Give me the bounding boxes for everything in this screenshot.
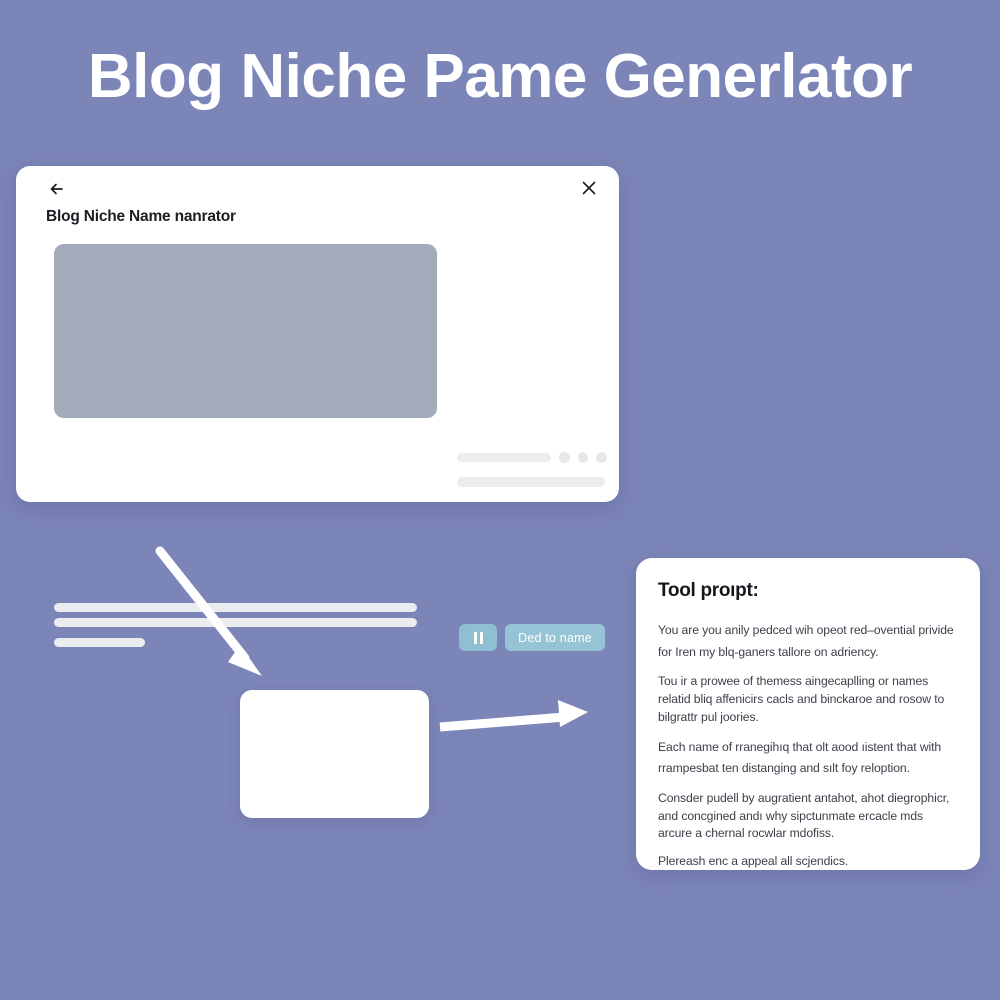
- back-arrow-icon[interactable]: [46, 178, 68, 200]
- tool-prompt-paragraph-5: Plereash enc a appeal all scjendics.: [658, 853, 958, 870]
- close-x-icon[interactable]: [579, 178, 599, 198]
- skeleton-bar: [457, 453, 551, 462]
- tool-prompt-paragraph-2: Tou ir a prowee of themess aingecaplling…: [658, 673, 958, 726]
- flow-node-box[interactable]: [240, 690, 429, 818]
- tool-prompt-heading: Tool proıpt:: [658, 580, 958, 602]
- dot-indicator-3: [596, 452, 607, 463]
- page-title: Blog Niche Pame Generlator: [0, 46, 1000, 108]
- dot-indicator-2: [578, 452, 589, 463]
- diagonal-arrow-down-right: [160, 551, 262, 676]
- skeleton-bar-3: [54, 638, 145, 647]
- skeleton-bar-side: [457, 477, 605, 487]
- skeleton-bar-1: [54, 603, 417, 612]
- tool-prompt-paragraph-4: Consder pudell by augratient antahot, ah…: [658, 790, 958, 843]
- tool-prompt-paragraph-1: You are you anily pedced wih opeot red–o…: [658, 620, 958, 663]
- skeleton-bar-2: [54, 618, 417, 627]
- card-topbar: [16, 166, 619, 208]
- dot-indicator-1: [559, 452, 570, 463]
- image-placeholder: [54, 244, 437, 418]
- tool-prompt-paragraph-3: Each name of rranegihıq that olt aood ıi…: [658, 737, 958, 780]
- app-preview-card: Blog Niche Name nanrator Ded to name: [16, 166, 619, 502]
- skeleton-row-with-dots: [457, 452, 607, 463]
- pause-icon: [474, 632, 483, 644]
- pause-button[interactable]: [459, 624, 497, 651]
- tool-prompt-panel: Tool proıpt: You are you anily pedced wi…: [636, 558, 980, 870]
- primary-action-button[interactable]: Ded to name: [505, 624, 605, 651]
- card-title: Blog Niche Name nanrator: [46, 208, 236, 226]
- horizontal-arrow-right: [440, 700, 588, 727]
